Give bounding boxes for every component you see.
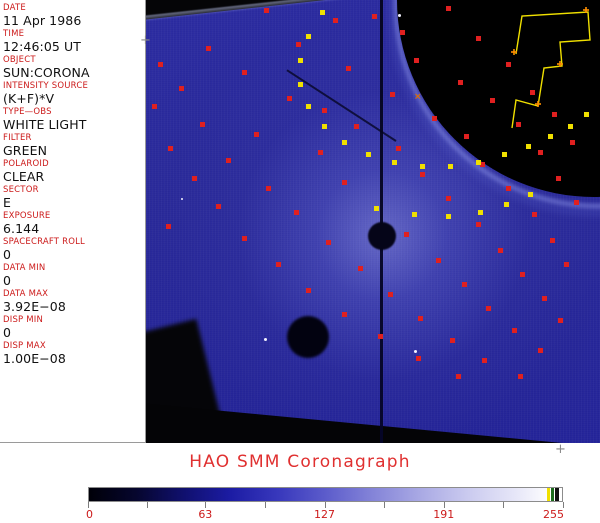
colorbar-label: 63	[198, 509, 212, 521]
colorbar-tick	[503, 502, 504, 508]
metadata-key: TYPE—OBS	[3, 107, 145, 117]
colorbar-label: 255	[543, 509, 564, 521]
metadata-field: DATA MAX3.92E−08	[3, 289, 145, 314]
colorbar-labels: 063127191255	[88, 509, 563, 523]
metadata-field: EXPOSURE6.144	[3, 211, 145, 236]
metadata-key: SECTOR	[3, 185, 145, 195]
metadata-key: OBJECT	[3, 55, 145, 65]
metadata-field: DATE11 Apr 1986	[3, 3, 145, 28]
metadata-field: TYPE—OBSWHITE LIGHT	[3, 107, 145, 132]
metadata-value: 0	[3, 273, 145, 288]
colorbar-tick	[265, 502, 266, 508]
coronagraph-viewer: DATE11 Apr 1986TIME12:46:05 UTOBJECTSUN:…	[0, 0, 600, 512]
metadata-value: GREEN	[3, 143, 145, 158]
annotation-polyline	[146, 0, 600, 443]
metadata-value: 0	[3, 247, 145, 262]
metadata-value: CLEAR	[3, 169, 145, 184]
annotation-path	[512, 12, 590, 128]
colorbar-end-band	[547, 488, 550, 501]
colorbar-tick	[147, 502, 148, 508]
metadata-sidebar: DATE11 Apr 1986TIME12:46:05 UTOBJECTSUN:…	[0, 0, 146, 443]
metadata-key: DATE	[3, 3, 145, 13]
colorbar-label: 191	[433, 509, 454, 521]
metadata-field: INTENSITY SOURCE(K+F)*V	[3, 81, 145, 106]
metadata-key: DISP MAX	[3, 341, 145, 351]
metadata-field: DISP MIN0	[3, 315, 145, 340]
metadata-key: INTENSITY SOURCE	[3, 81, 145, 91]
metadata-field: SECTORE	[3, 185, 145, 210]
metadata-value: 6.144	[3, 221, 145, 236]
metadata-key: DATA MIN	[3, 263, 145, 273]
metadata-field: DATA MIN0	[3, 263, 145, 288]
metadata-key: FILTER	[3, 133, 145, 143]
colorbar-gradient[interactable]	[88, 487, 563, 502]
metadata-field: SPACECRAFT ROLL0	[3, 237, 145, 262]
metadata-key: SPACECRAFT ROLL	[3, 237, 145, 247]
coronagraph-image-panel[interactable]: ×	[146, 0, 600, 443]
metadata-key: EXPOSURE	[3, 211, 145, 221]
metadata-key: TIME	[3, 29, 145, 39]
left-edge-tick: +	[140, 36, 151, 46]
colorbar-end-band	[555, 488, 558, 501]
colorbar-label: 0	[86, 509, 93, 521]
metadata-key: POLAROID	[3, 159, 145, 169]
colorbar-end-band	[551, 488, 554, 501]
metadata-value: 0	[3, 325, 145, 340]
metadata-value: 12:46:05 UT	[3, 39, 145, 54]
metadata-value: (K+F)*V	[3, 91, 145, 106]
metadata-field: DISP MAX1.00E−08	[3, 341, 145, 366]
metadata-field: OBJECTSUN:CORONA	[3, 55, 145, 80]
colorbar-tick	[384, 502, 385, 508]
metadata-field: FILTERGREEN	[3, 133, 145, 158]
metadata-field: POLAROIDCLEAR	[3, 159, 145, 184]
metadata-field: TIME12:46:05 UT	[3, 29, 145, 54]
page-title: HAO SMM Coronagraph	[0, 452, 600, 472]
colorbar-label: 127	[314, 509, 335, 521]
colorbar: 063127191255	[88, 487, 563, 523]
metadata-value: 1.00E−08	[3, 351, 145, 366]
metadata-value: SUN:CORONA	[3, 65, 145, 80]
metadata-value: WHITE LIGHT	[3, 117, 145, 132]
metadata-value: 3.92E−08	[3, 299, 145, 314]
metadata-value: 11 Apr 1986	[3, 13, 145, 28]
metadata-value: E	[3, 195, 145, 210]
metadata-key: DATA MAX	[3, 289, 145, 299]
metadata-key: DISP MIN	[3, 315, 145, 325]
